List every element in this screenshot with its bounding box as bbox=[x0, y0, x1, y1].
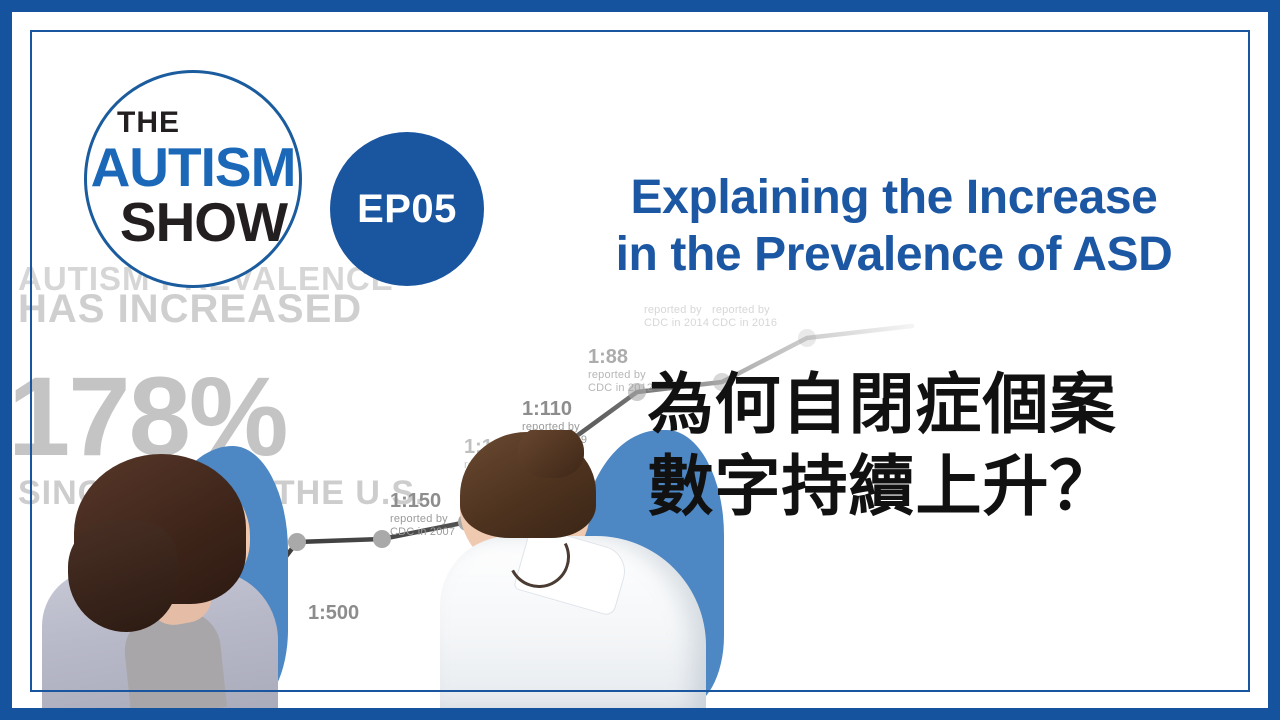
title-chinese: 為何自閉症個案 數字持續上升？ bbox=[572, 364, 1192, 528]
chart-label-cdc-2016: reported by CDC in 2016 bbox=[712, 304, 777, 331]
chart-label-1-500: 1:500 bbox=[308, 602, 359, 625]
chart-label-sub-year: CDC in 2014 bbox=[644, 317, 709, 330]
title-chinese-line-1: 為何自閉症個案 bbox=[572, 364, 1192, 446]
chart-label-value: 1:500 bbox=[308, 602, 359, 624]
chart-label-value: 1:110 bbox=[522, 398, 572, 420]
chart-label-cdc-2014: reported by CDC in 2014 bbox=[644, 304, 709, 331]
photo-woman-left bbox=[38, 442, 308, 708]
chart-label-sub-reported-by: reported by bbox=[644, 304, 709, 317]
title-english-line-2: in the Prevalence of ASD bbox=[524, 227, 1264, 284]
title-chinese-line-2: 數字持續上升？ bbox=[572, 446, 1192, 528]
show-logo[interactable]: THE AUTISM SHOW bbox=[84, 70, 302, 288]
logo-word-the: THE bbox=[117, 108, 180, 138]
woman-left-hair-strand bbox=[68, 520, 178, 632]
title-english-line-1: Explaining the Increase bbox=[524, 170, 1264, 227]
chart-label-sub-reported-by: reported by bbox=[712, 304, 777, 317]
episode-badge[interactable]: EP05 bbox=[330, 132, 484, 286]
episode-badge-label: EP05 bbox=[357, 187, 457, 232]
logo-word-show: SHOW bbox=[120, 195, 287, 250]
chart-label-sub-year: CDC in 2016 bbox=[712, 317, 777, 330]
slide-stage: AUTISM PREVALENCE HAS INCREASED 178% SIN… bbox=[12, 12, 1268, 708]
title-english: Explaining the Increase in the Prevalenc… bbox=[524, 170, 1264, 283]
logo-word-autism: AUTISM bbox=[91, 140, 296, 195]
